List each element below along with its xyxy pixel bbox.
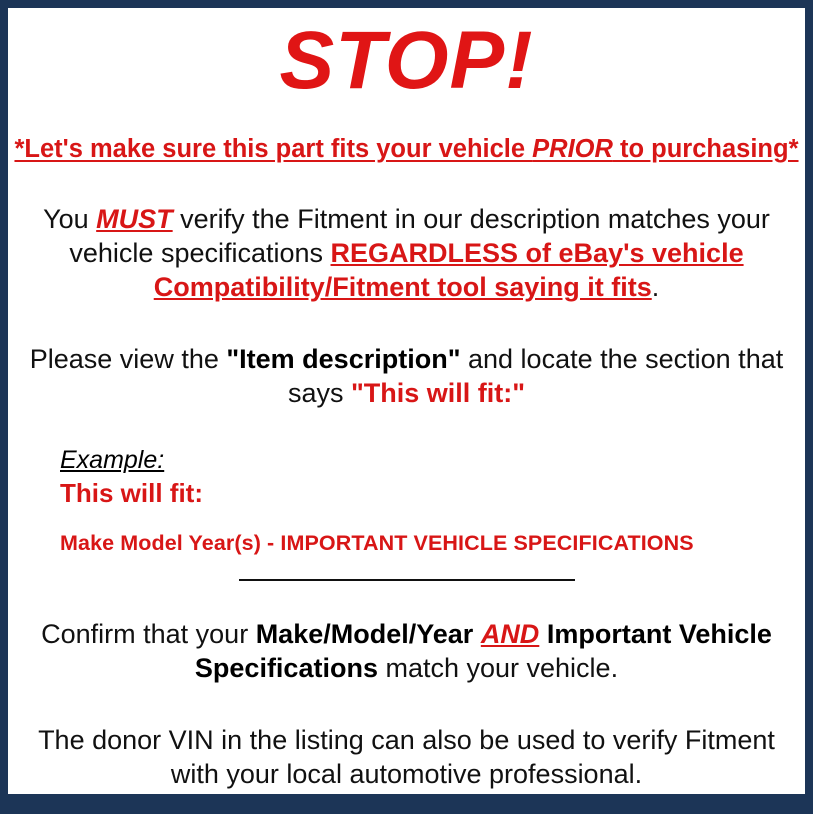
stop-headline: STOP! bbox=[14, 20, 799, 102]
this-will-fit-emphasis: "This will fit:" bbox=[351, 378, 525, 408]
confirm-seg-4: match your vehicle. bbox=[378, 653, 618, 683]
tagline-banner: *Let's make sure this part fits your veh… bbox=[14, 135, 799, 164]
desc-seg-1: Please view the bbox=[30, 344, 227, 374]
paragraph-confirm-match: Confirm that your Make/Model/Year AND Im… bbox=[29, 617, 785, 685]
example-block: Example: This will fit: Make Model Year(… bbox=[14, 446, 799, 556]
fitment-notice-card: STOP! *Let's make sure this part fits yo… bbox=[8, 8, 805, 794]
and-emphasis: AND bbox=[481, 619, 540, 649]
tagline-after: to purchasing* bbox=[613, 135, 799, 163]
paragraph-item-description: Please view the "Item description" and l… bbox=[22, 342, 792, 410]
section-divider bbox=[239, 579, 575, 581]
confirm-seg-2 bbox=[473, 619, 481, 649]
confirm-seg-3 bbox=[539, 619, 547, 649]
must-seg-3: . bbox=[652, 272, 660, 302]
example-fit-heading: This will fit: bbox=[60, 478, 799, 509]
must-seg-1: You bbox=[43, 204, 96, 234]
make-model-year-emphasis: Make/Model/Year bbox=[256, 619, 474, 649]
notice-content: STOP! *Let's make sure this part fits yo… bbox=[8, 20, 805, 794]
example-spec-line: Make Model Year(s) - IMPORTANT VEHICLE S… bbox=[60, 531, 799, 557]
tagline-before: *Let's make sure this part fits your veh… bbox=[14, 135, 532, 163]
example-label: Example: bbox=[60, 446, 799, 476]
item-description-emphasis: "Item description" bbox=[226, 344, 460, 374]
paragraph-donor-vin: The donor VIN in the listing can also be… bbox=[21, 723, 793, 791]
paragraph-must-verify: You MUST verify the Fitment in our descr… bbox=[27, 202, 787, 304]
confirm-seg-1: Confirm that your bbox=[41, 619, 256, 649]
must-emphasis: MUST bbox=[96, 204, 173, 234]
tagline-emphasis-prior: PRIOR bbox=[532, 135, 613, 163]
